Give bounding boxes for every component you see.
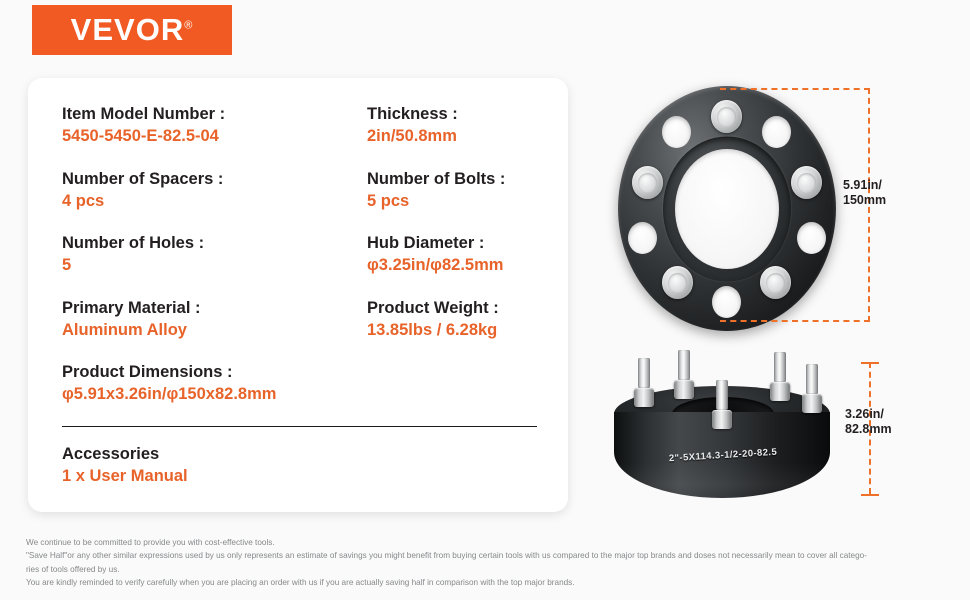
stud-nut	[712, 410, 732, 429]
footer-line-3: ries of tools offered by us.	[26, 563, 946, 576]
spec-label: Product Dimensions :	[62, 362, 540, 383]
section-divider	[62, 426, 537, 427]
specification-card: Item Model Number : 5450-5450-E-82.5-04 …	[28, 78, 568, 512]
spec-item-thickness: Thickness : 2in/50.8mm	[367, 104, 540, 148]
stud-thread	[678, 350, 690, 380]
spec-value: 5450-5450-E-82.5-04	[62, 126, 367, 147]
spec-value: 4 pcs	[62, 191, 367, 212]
accessories-value: 1 x User Manual	[62, 466, 188, 487]
bolt-head	[662, 266, 693, 299]
through-hole	[762, 116, 791, 148]
spacer-bottom-sheen	[614, 462, 830, 500]
accessories-label: Accessories	[62, 444, 188, 465]
wheel-stud	[802, 364, 822, 413]
spec-item-item-model-number: Item Model Number : 5450-5450-E-82.5-04	[62, 104, 367, 148]
bolt-head	[791, 166, 822, 199]
stud-thread	[638, 358, 650, 388]
stud-thread	[774, 352, 786, 382]
spec-label: Thickness :	[367, 104, 540, 125]
spec-value: Aluminum Alloy	[62, 320, 367, 341]
spec-value: 5	[62, 255, 367, 276]
stud-nut	[674, 380, 694, 399]
bolt-head	[760, 266, 791, 299]
spec-label: Number of Holes :	[62, 233, 367, 254]
diameter-dimension-label: 5.91in/ 150mm	[843, 178, 886, 209]
specification-grid: Item Model Number : 5450-5450-E-82.5-04 …	[62, 104, 540, 427]
diameter-value-line1: 5.91in/	[843, 178, 886, 193]
spec-value: φ3.25in/φ82.5mm	[367, 255, 540, 276]
spacer-center-bore	[675, 149, 779, 269]
spec-item-number-of-spacers: Number of Spacers : 4 pcs	[62, 169, 367, 213]
stud-nut	[770, 382, 790, 401]
registered-trademark-icon: ®	[184, 20, 193, 32]
spec-label: Number of Bolts :	[367, 169, 540, 190]
thickness-value-line2: 82.8mm	[845, 422, 892, 437]
stud-nut	[634, 388, 654, 407]
spec-label: Number of Spacers :	[62, 169, 367, 190]
spec-value: φ5.91x3.26in/φ150x82.8mm	[62, 384, 540, 405]
spec-value: 2in/50.8mm	[367, 126, 540, 147]
spec-label: Primary Material :	[62, 298, 367, 319]
through-hole	[628, 222, 657, 254]
spec-item-product-dimensions: Product Dimensions : φ5.91x3.26in/φ150x8…	[62, 362, 540, 406]
spacer-disc-body	[618, 86, 836, 331]
accessories-section: Accessories 1 x User Manual	[62, 444, 188, 488]
through-hole	[662, 116, 691, 148]
bolt-head	[632, 166, 663, 199]
footer-line-4: You are kindly reminded to verify carefu…	[26, 576, 946, 589]
spec-label: Product Weight :	[367, 298, 540, 319]
vevor-logo: VEVOR®	[32, 5, 232, 55]
brand-name: VEVOR®	[71, 12, 194, 48]
wheel-stud	[634, 358, 654, 407]
spec-value: 13.85lbs / 6.28kg	[367, 320, 540, 341]
spec-label: Item Model Number :	[62, 104, 367, 125]
thickness-dimension-cap-bottom	[861, 494, 879, 496]
wheel-stud	[712, 380, 732, 429]
stud-nut	[802, 394, 822, 413]
spec-item-number-of-bolts: Number of Bolts : 5 pcs	[367, 169, 540, 213]
stud-thread	[716, 380, 728, 410]
wheel-stud	[770, 352, 790, 401]
spec-label: Hub Diameter :	[367, 233, 540, 254]
spec-item-hub-diameter: Hub Diameter : φ3.25in/φ82.5mm	[367, 233, 540, 277]
wheel-stud	[674, 350, 694, 399]
footer-line-2: "Save Half"or any other similar expressi…	[26, 549, 946, 562]
spec-item-product-weight: Product Weight : 13.85lbs / 6.28kg	[367, 298, 540, 342]
diameter-dimension-line-top	[720, 88, 870, 90]
product-spec-sheet: VEVOR® Item Model Number : 5450-5450-E-8…	[0, 0, 970, 600]
spec-item-primary-material: Primary Material : Aluminum Alloy	[62, 298, 367, 342]
spec-item-number-of-holes: Number of Holes : 5	[62, 233, 367, 277]
bolt-head	[711, 100, 742, 133]
through-hole	[712, 286, 741, 318]
diameter-value-line2: 150mm	[843, 193, 886, 208]
diameter-dimension-line-bottom	[720, 320, 870, 322]
thickness-value-line1: 3.26in/	[845, 407, 892, 422]
footer-disclaimer: We continue to be committed to provide y…	[26, 536, 946, 589]
thickness-dimension-label: 3.26in/ 82.8mm	[845, 407, 892, 438]
spec-value: 5 pcs	[367, 191, 540, 212]
stud-thread	[806, 364, 818, 394]
through-hole	[797, 222, 826, 254]
product-image-spacer-front-view	[600, 78, 850, 340]
product-image-spacer-angled-view: 2"-5X114.3-1/2-20-82.5	[598, 350, 848, 510]
footer-line-1: We continue to be committed to provide y…	[26, 536, 946, 549]
